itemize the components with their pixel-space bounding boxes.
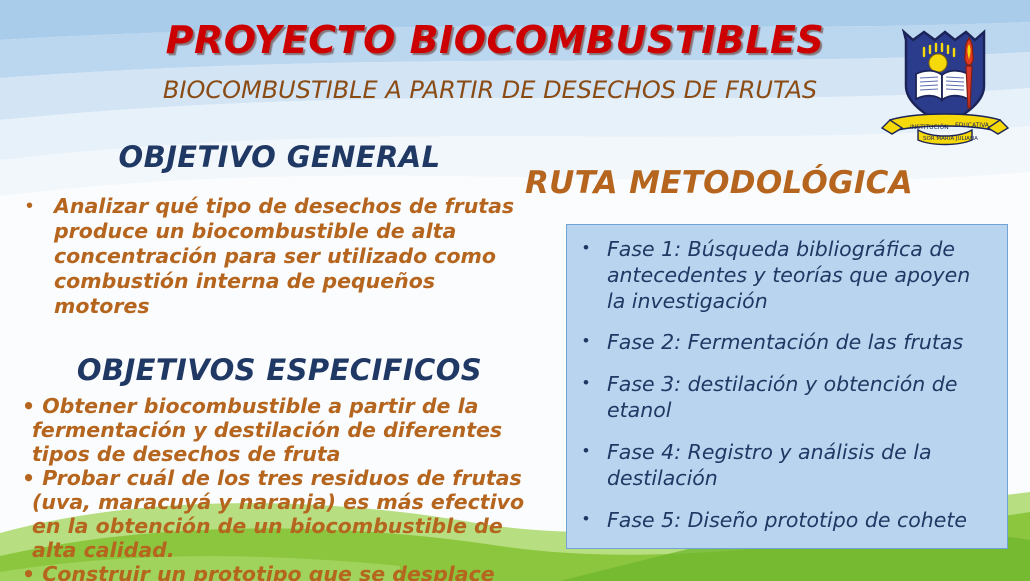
slide: PROYECTO BIOCOMBUSTIBLES BIOCOMBUSTIBLE … bbox=[0, 0, 1030, 581]
page-title: PROYECTO BIOCOMBUSTIBLES bbox=[0, 18, 1030, 62]
fase-text: Fase 1: Búsqueda bibliográfica de antece… bbox=[607, 237, 993, 314]
objetivos-especificos-heading: OBJETIVOS ESPECIFICOS bbox=[0, 353, 545, 387]
ribbon-banner: INSTITUCIÓN EDUCATIVA SOR MARIA JULIANA bbox=[882, 114, 1008, 145]
ribbon-text-bottom: SOR MARIA JULIANA bbox=[923, 136, 978, 142]
bullet-icon: • bbox=[577, 237, 607, 258]
bullet-icon: • bbox=[577, 508, 607, 529]
ribbon-text-right: EDUCATIVA bbox=[955, 122, 990, 129]
fase-text: Fase 5: Diseño prototipo de cohete bbox=[607, 508, 967, 534]
ribbon-text-left: INSTITUCIÓN bbox=[910, 124, 949, 131]
fase-text: Fase 2: Fermentación de las frutas bbox=[607, 330, 963, 356]
school-crest-logo: INSTITUCIÓN EDUCATIVA SOR MARIA JULIANA bbox=[880, 16, 1010, 146]
objetivo-general-text: Analizar qué tipo de desechos de frutas … bbox=[54, 194, 531, 319]
bullet-icon: • bbox=[577, 440, 607, 461]
objetivo-general-heading: OBJETIVO GENERAL bbox=[0, 140, 545, 174]
list-item: • Fase 2: Fermentación de las frutas bbox=[577, 330, 993, 356]
sun-icon bbox=[929, 54, 947, 72]
fase-text: Fase 4: Registro y análisis de la destil… bbox=[607, 440, 993, 492]
fase-text: Fase 3: destilación y obtención de etano… bbox=[607, 372, 993, 424]
list-item: • Fase 5: Diseño prototipo de cohete bbox=[577, 508, 993, 534]
page-subtitle: BIOCOMBUSTIBLE A PARTIR DE DESECHOS DE F… bbox=[110, 76, 870, 104]
bullet-icon: • bbox=[577, 330, 607, 351]
list-item: • Probar cuál de los tres residuos de fr… bbox=[22, 467, 539, 562]
crest-icon: INSTITUCIÓN EDUCATIVA SOR MARIA JULIANA bbox=[880, 16, 1010, 146]
objetivos-especificos-list: • Obtener biocombustible a partir de la … bbox=[0, 395, 545, 581]
objetivo-general-item: • Analizar qué tipo de desechos de fruta… bbox=[0, 194, 545, 319]
list-item: • Fase 1: Búsqueda bibliográfica de ante… bbox=[577, 237, 993, 314]
list-item: • Fase 3: destilación y obtención de eta… bbox=[577, 372, 993, 424]
open-book-icon bbox=[916, 71, 968, 100]
list-item: • Construir un prototipo que se desplace… bbox=[22, 563, 539, 581]
left-column: OBJETIVO GENERAL • Analizar qué tipo de … bbox=[0, 140, 545, 581]
bullet-icon: • bbox=[577, 372, 607, 393]
bullet-icon: • bbox=[26, 194, 54, 218]
list-item: • Fase 4: Registro y análisis de la dest… bbox=[577, 440, 993, 492]
list-item: • Obtener biocombustible a partir de la … bbox=[22, 395, 539, 466]
ruta-metodologica-heading: RUTA METODOLÓGICA bbox=[525, 165, 913, 201]
ruta-metodologica-box: • Fase 1: Búsqueda bibliográfica de ante… bbox=[566, 224, 1008, 549]
